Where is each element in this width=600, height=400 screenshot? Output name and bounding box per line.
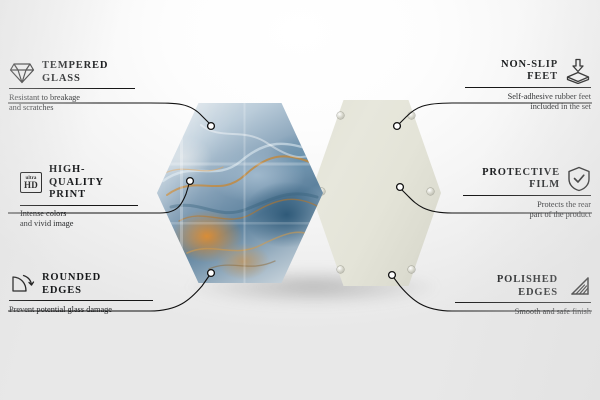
feature-rounded-edges: ROUNDED EDGES Prevent potential glass da… [9,272,153,315]
feature-high-quality-print: ultra HD HIGH-QUALITY PRINT Intense colo… [20,164,138,230]
feature-divider [9,88,135,89]
feature-header: TEMPERED GLASS [9,60,135,85]
feature-title-line2: FEET [501,71,558,84]
feature-divider [455,302,591,303]
rounded-corner-icon [9,273,35,297]
feature-header: ultra HD HIGH-QUALITY PRINT [20,164,138,202]
rubber-foot [408,112,415,119]
feature-tempered-glass: TEMPERED GLASS Resistant to breakage and… [9,60,135,113]
feature-title: ROUNDED EDGES [42,272,101,297]
feature-desc-line2: part of the product [463,210,591,220]
feature-title: HIGH-QUALITY PRINT [49,164,138,202]
feature-title-line2: EDGES [497,287,558,300]
back-panel [311,100,441,286]
feature-desc-line2: included in the set [465,102,591,112]
feature-title-line1: ROUNDED [42,272,101,285]
feature-desc-line1: Resistant to breakage [9,93,135,103]
press-down-pad-icon [565,58,591,84]
diamond-icon [9,61,35,85]
feature-title-line1: TEMPERED [42,60,108,73]
feature-desc-line2: and vivid image [20,219,138,229]
feature-description: Smooth and safe finish [455,307,591,317]
feature-title-line1: NON-SLIP [501,59,558,72]
feature-title: POLISHED EDGES [497,274,558,299]
feature-desc-line1: Prevent potential glass damage [9,305,153,315]
feature-title-line2: GLASS [42,73,108,86]
feature-divider [9,300,153,301]
feature-description: Intense colors and vivid image [20,209,138,229]
rubber-foot [427,188,434,195]
feature-desc-line1: Intense colors [20,209,138,219]
feature-title: NON-SLIP FEET [501,59,558,84]
rubber-foot [408,266,415,273]
feature-description: Prevent potential glass damage [9,305,153,315]
feature-title: TEMPERED GLASS [42,60,108,85]
feature-title-line1: POLISHED [497,274,558,287]
feature-description: Self-adhesive rubber feet included in th… [465,92,591,112]
hatched-triangle-icon [565,276,591,298]
feature-description: Resistant to breakage and scratches [9,93,135,113]
rubber-foot [337,266,344,273]
feature-divider [465,87,591,88]
feature-title-line1: HIGH-QUALITY [49,164,138,189]
feature-desc-line2: and scratches [9,103,135,113]
ultra-hd-icon: ultra HD [20,172,42,193]
feature-header: NON-SLIP FEET [465,58,591,84]
feature-divider [463,195,591,196]
feature-protective-film: PROTECTIVE FILM Protects the rear part o… [463,166,591,220]
infographic-canvas: TEMPERED GLASS Resistant to breakage and… [0,0,600,400]
feature-header: POLISHED EDGES [455,274,591,299]
feature-desc-line1: Self-adhesive rubber feet [465,92,591,102]
feature-desc-line1: Protects the rear [463,200,591,210]
feature-header: ROUNDED EDGES [9,272,153,297]
feature-divider [20,205,138,206]
feature-description: Protects the rear part of the product [463,200,591,220]
back-panel-surface [311,100,441,286]
feature-title-line1: PROTECTIVE [482,167,560,180]
feature-title: PROTECTIVE FILM [482,167,560,192]
feature-non-slip-feet: NON-SLIP FEET Self-adhesive rubber feet … [465,58,591,112]
feature-header: PROTECTIVE FILM [463,166,591,192]
feature-title-line2: EDGES [42,285,101,298]
feature-desc-line1: Smooth and safe finish [455,307,591,317]
feature-polished-edges: POLISHED EDGES Smooth and safe finish [455,274,591,317]
rubber-foot [337,112,344,119]
window-reflection [157,103,323,283]
feature-title-line2: FILM [482,179,560,192]
ultra-hd-icon-bottom: HD [24,181,38,190]
feature-title-line2: PRINT [49,189,138,202]
shield-check-icon [567,166,591,192]
glass-panel [157,103,323,283]
